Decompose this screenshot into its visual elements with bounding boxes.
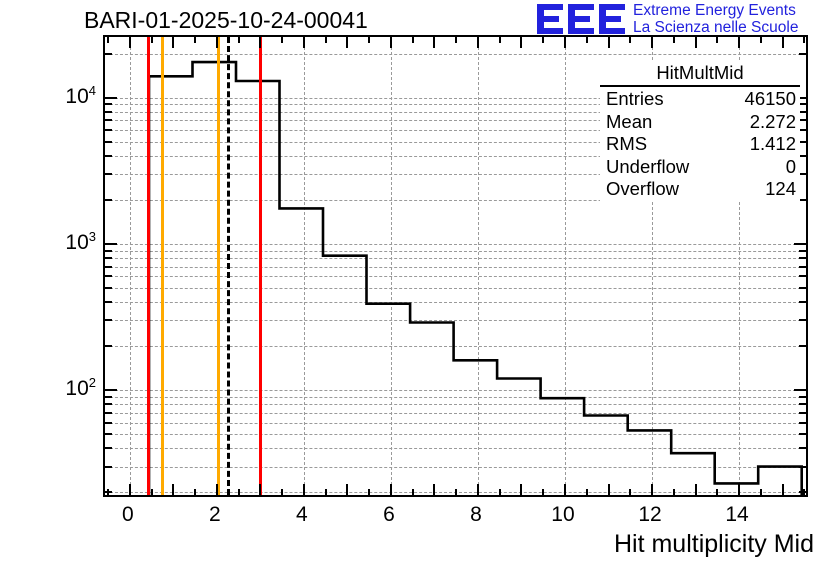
x-tick-top xyxy=(520,37,522,48)
y-tick xyxy=(105,319,112,321)
y-tick xyxy=(105,389,117,391)
y-tick-right xyxy=(799,199,806,201)
x-tick-top xyxy=(281,37,283,43)
x-tick xyxy=(390,484,392,495)
x-tick xyxy=(216,484,218,495)
y-tick-right xyxy=(799,403,806,405)
stats-row-value: 2.272 xyxy=(750,111,796,134)
x-tick xyxy=(695,484,697,495)
x-tick xyxy=(259,484,261,495)
logo-letter-e xyxy=(599,4,625,34)
y-tick-right xyxy=(799,155,806,157)
y-tick xyxy=(105,199,112,201)
x-tick xyxy=(433,484,435,495)
y-tick xyxy=(105,422,112,424)
x-tick-top xyxy=(477,37,479,48)
y-tick-right xyxy=(794,243,806,245)
x-tick-label: 2 xyxy=(209,503,221,527)
x-tick-top xyxy=(455,37,457,43)
y-tick-right xyxy=(799,287,806,289)
x-tick-top xyxy=(259,37,261,48)
x-tick-top xyxy=(390,37,392,48)
x-axis-title: Hit multiplicity Mid xyxy=(614,530,814,559)
marker-line-orange-upper-warning xyxy=(217,37,220,495)
y-tick xyxy=(105,275,112,277)
histogram-canvas: BARI-01-2025-10-24-00041 Extreme Energy … xyxy=(0,0,836,572)
x-tick-top xyxy=(738,37,740,48)
marker-line-orange-lower-warning xyxy=(161,37,164,495)
logo-text-line2: La Scienza nelle Scuole xyxy=(633,19,798,36)
y-tick-label: 102 xyxy=(30,375,96,401)
stats-row-label: Entries xyxy=(606,88,664,111)
y-tick xyxy=(105,129,112,131)
x-tick-top xyxy=(433,37,435,48)
stats-row-label: Overflow xyxy=(606,178,679,201)
y-tick xyxy=(105,266,112,268)
x-tick xyxy=(499,489,501,495)
x-tick-top xyxy=(412,37,414,43)
x-tick-top xyxy=(782,37,784,48)
x-tick-top xyxy=(325,37,327,43)
logo-letter-e xyxy=(537,4,563,34)
y-tick xyxy=(105,287,112,289)
x-tick-top xyxy=(107,37,109,43)
stats-row: Underflow0 xyxy=(600,156,800,179)
x-tick xyxy=(520,484,522,495)
stats-box: HitMultMid Entries46150Mean2.272RMS1.412… xyxy=(600,62,800,201)
y-tick-right xyxy=(799,301,806,303)
marker-line-mean-marker xyxy=(227,37,230,495)
x-tick-top xyxy=(673,37,675,43)
page-title: BARI-01-2025-10-24-00041 xyxy=(84,7,368,34)
x-tick-top xyxy=(564,37,566,48)
x-tick-top xyxy=(695,37,697,48)
x-tick xyxy=(629,489,631,495)
y-tick-right xyxy=(799,412,806,414)
x-tick xyxy=(325,489,327,495)
stats-title: HitMultMid xyxy=(600,62,800,87)
y-tick-right xyxy=(799,257,806,259)
y-tick-right xyxy=(799,111,806,113)
stats-row: Entries46150 xyxy=(600,88,800,111)
marker-line-red-lower-limit xyxy=(147,37,150,495)
x-tick-top xyxy=(216,37,218,48)
y-tick-right xyxy=(799,119,806,121)
x-tick xyxy=(238,489,240,495)
x-tick xyxy=(673,489,675,495)
stats-row-label: RMS xyxy=(606,133,647,156)
x-tick xyxy=(129,484,131,495)
stats-row-value: 1.412 xyxy=(750,133,796,156)
logo-letter-e xyxy=(568,4,594,34)
logo-text-line1: Extreme Energy Events xyxy=(633,2,798,19)
y-tick xyxy=(105,403,112,405)
x-tick-top xyxy=(346,37,348,48)
x-tick xyxy=(281,489,283,495)
y-tick-right xyxy=(799,103,806,105)
x-tick-label: 4 xyxy=(296,503,308,527)
x-tick-top xyxy=(629,37,631,43)
x-tick xyxy=(716,489,718,495)
y-tick xyxy=(105,173,112,175)
x-tick xyxy=(651,484,653,495)
eee-logo-mark xyxy=(537,4,627,34)
y-tick-right xyxy=(799,266,806,268)
y-tick xyxy=(105,301,112,303)
x-tick-top xyxy=(303,37,305,48)
y-tick xyxy=(105,141,112,143)
y-tick xyxy=(105,103,112,105)
y-tick-right xyxy=(799,53,806,55)
x-tick xyxy=(172,484,174,495)
stats-row: RMS1.412 xyxy=(600,133,800,156)
x-tick xyxy=(194,489,196,495)
y-tick-right xyxy=(794,389,806,391)
x-tick-top xyxy=(542,37,544,43)
x-tick xyxy=(608,484,610,495)
logo-text: Extreme Energy Events La Scienza nelle S… xyxy=(633,2,798,36)
x-tick xyxy=(303,484,305,495)
x-tick-top xyxy=(651,37,653,48)
y-tick xyxy=(105,345,112,347)
x-tick-label: 6 xyxy=(383,503,395,527)
x-tick xyxy=(738,484,740,495)
y-tick xyxy=(105,97,117,99)
x-tick xyxy=(455,489,457,495)
stats-row-value: 124 xyxy=(765,178,796,201)
y-tick-right xyxy=(799,433,806,435)
y-tick xyxy=(105,53,112,55)
x-tick-top xyxy=(608,37,610,48)
x-tick-top xyxy=(803,37,805,43)
x-tick xyxy=(564,484,566,495)
x-tick-top xyxy=(499,37,501,43)
x-tick-top xyxy=(194,37,196,43)
marker-line-red-upper-limit xyxy=(259,37,262,495)
stats-row-value: 46150 xyxy=(745,88,796,111)
y-tick xyxy=(105,433,112,435)
y-tick xyxy=(105,466,112,468)
x-tick-label: 8 xyxy=(470,503,482,527)
y-tick xyxy=(105,412,112,414)
x-tick xyxy=(412,489,414,495)
y-tick xyxy=(105,243,117,245)
y-tick-right xyxy=(799,319,806,321)
x-tick xyxy=(760,489,762,495)
y-tick-right xyxy=(799,173,806,175)
y-tick-right xyxy=(799,466,806,468)
stats-row: Overflow124 xyxy=(600,178,800,201)
y-tick-right xyxy=(799,275,806,277)
y-tick-right xyxy=(799,396,806,398)
y-tick xyxy=(105,447,112,449)
y-tick-right xyxy=(799,129,806,131)
x-tick xyxy=(477,484,479,495)
x-tick-top xyxy=(716,37,718,43)
y-tick xyxy=(105,257,112,259)
x-tick-label: 0 xyxy=(122,503,134,527)
stats-row-label: Mean xyxy=(606,111,652,134)
y-tick-label: 104 xyxy=(30,83,96,109)
y-tick xyxy=(105,396,112,398)
x-tick-top xyxy=(238,37,240,43)
y-tick xyxy=(105,250,112,252)
y-tick-right xyxy=(799,447,806,449)
x-tick-label: 14 xyxy=(725,503,748,527)
x-tick-top xyxy=(151,37,153,43)
x-tick xyxy=(368,489,370,495)
stats-row-value: 0 xyxy=(786,156,796,179)
y-tick-right xyxy=(799,141,806,143)
x-tick xyxy=(346,484,348,495)
y-tick-right xyxy=(799,491,806,493)
stats-rows: Entries46150Mean2.272RMS1.412Underflow0O… xyxy=(600,88,800,201)
x-tick xyxy=(542,489,544,495)
y-tick xyxy=(105,491,112,493)
y-tick xyxy=(105,119,112,121)
x-tick xyxy=(782,484,784,495)
y-tick-right xyxy=(799,422,806,424)
x-tick-top xyxy=(129,37,131,48)
x-tick-top xyxy=(586,37,588,43)
x-tick-label: 10 xyxy=(551,503,574,527)
x-tick-top xyxy=(760,37,762,43)
eee-logo: Extreme Energy Events La Scienza nelle S… xyxy=(537,2,833,36)
x-tick-top xyxy=(368,37,370,43)
y-tick xyxy=(105,155,112,157)
x-tick-label: 12 xyxy=(638,503,661,527)
x-tick xyxy=(151,489,153,495)
y-tick-right xyxy=(799,250,806,252)
stats-row-label: Underflow xyxy=(606,156,689,179)
y-tick xyxy=(105,111,112,113)
stats-row: Mean2.272 xyxy=(600,111,800,134)
x-tick-top xyxy=(172,37,174,48)
y-tick-right xyxy=(799,345,806,347)
x-tick xyxy=(586,489,588,495)
y-tick-label: 103 xyxy=(30,229,96,255)
